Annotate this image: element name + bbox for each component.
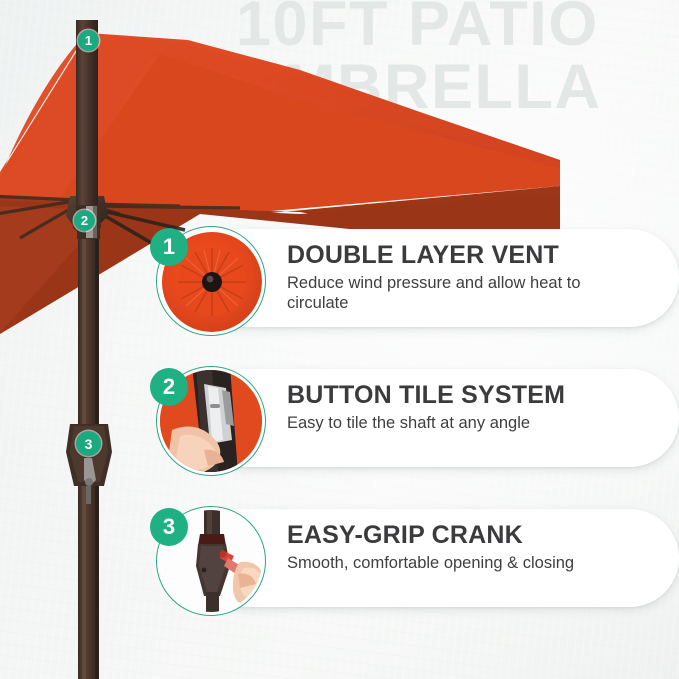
hotspot-marker-3[interactable]: 3 [76,431,101,456]
feature-description-3: Smooth, comfortable opening & closing [287,553,657,573]
feature-card-list: 1 DOUBLE LAYER VENT Reduce wind pressure… [150,226,679,646]
feature-badge-1: 1 [150,228,188,266]
feature-card-3[interactable]: 3 EASY-GRIP CRANK Smooth, comfortable op… [150,506,679,610]
feature-card-2-text: BUTTON TILE SYSTEM Easy to tile the shaf… [287,382,657,433]
feature-description-2: Easy to tile the shaft at any angle [287,413,657,433]
feature-description-1: Reduce wind pressure and allow heat to c… [287,273,617,313]
feature-card-2[interactable]: 2 BUTTON TILE SYSTEM Easy to tile the sh… [150,366,679,470]
hotspot-marker-1[interactable]: 1 [78,30,99,51]
feature-badge-3: 3 [150,508,188,546]
feature-card-3-text: EASY-GRIP CRANK Smooth, comfortable open… [287,522,657,573]
feature-title-3: EASY-GRIP CRANK [287,522,657,549]
feature-title-2: BUTTON TILE SYSTEM [287,382,657,409]
feature-badge-2: 2 [150,368,188,406]
feature-card-1-text: DOUBLE LAYER VENT Reduce wind pressure a… [287,242,657,313]
product-infographic: 10FT PATIO UMBRELLA [0,0,679,679]
hotspot-marker-2[interactable]: 2 [74,210,95,231]
feature-title-1: DOUBLE LAYER VENT [287,242,657,269]
feature-card-1[interactable]: 1 DOUBLE LAYER VENT Reduce wind pressure… [150,226,679,330]
